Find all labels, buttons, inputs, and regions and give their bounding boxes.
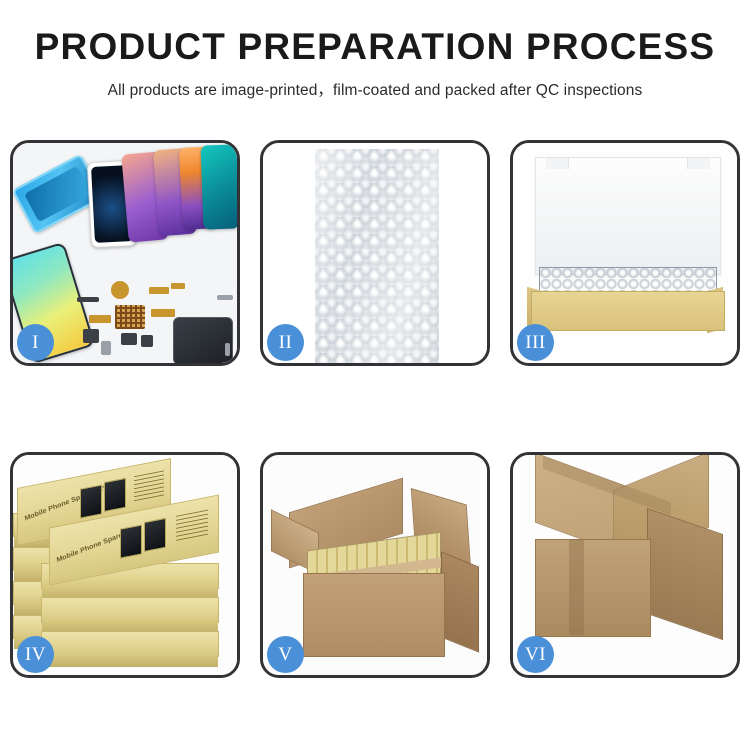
part-flex-cable-2 bbox=[171, 283, 185, 289]
step-badge-6: VI bbox=[517, 636, 554, 673]
part-back-housing bbox=[173, 317, 233, 363]
carton-front-panel bbox=[303, 573, 445, 657]
page-subtitle: All products are image-printed，film-coat… bbox=[0, 78, 750, 100]
header: PRODUCT PREPARATION PROCESS All products… bbox=[0, 0, 750, 100]
part-sim-tray bbox=[101, 341, 111, 355]
part-vibrator bbox=[141, 335, 153, 347]
box-front-panel bbox=[531, 291, 725, 331]
box-spec-lines-2 bbox=[176, 510, 208, 542]
box-screen-image-1b bbox=[104, 478, 126, 512]
part-flex-cable-4 bbox=[151, 309, 175, 317]
step-badge-4: IV bbox=[17, 636, 54, 673]
box-screen-image-1a bbox=[80, 484, 102, 518]
plastic-sheen bbox=[315, 149, 439, 363]
product-preparation-infographic: PRODUCT PREPARATION PROCESS All products… bbox=[0, 0, 750, 750]
process-step-1: I bbox=[10, 140, 240, 366]
process-step-2: II bbox=[260, 140, 490, 366]
sealed-carton-front-panel bbox=[535, 539, 651, 637]
part-strip bbox=[77, 297, 99, 302]
box-screen-image-2a bbox=[120, 524, 142, 558]
part-speaker-coil bbox=[111, 281, 129, 299]
part-tool bbox=[217, 295, 233, 300]
step-badge-5: V bbox=[267, 636, 304, 673]
box-front-2 bbox=[41, 597, 219, 623]
box-screen-image-2b bbox=[144, 518, 166, 552]
process-step-4: Mobile Phone Spare Parts Mobile Phone Sp… bbox=[10, 452, 240, 678]
step-badge-1: I bbox=[17, 324, 54, 361]
carton-side-panel bbox=[441, 551, 479, 652]
process-step-grid: I II III bbox=[10, 140, 740, 678]
box-spec-lines-1 bbox=[134, 470, 164, 502]
part-screwdriver bbox=[225, 343, 230, 356]
process-step-3: III bbox=[510, 140, 740, 366]
box-front-3 bbox=[41, 631, 219, 657]
sealed-carton-right-panel bbox=[647, 508, 723, 640]
box-lid-open bbox=[535, 157, 721, 275]
part-camera-module bbox=[83, 329, 99, 343]
step-badge-2: II bbox=[267, 324, 304, 361]
step-badge-3: III bbox=[517, 324, 554, 361]
carton-tape-front bbox=[569, 539, 584, 635]
process-step-5: V bbox=[260, 452, 490, 678]
part-flex-cable-1 bbox=[149, 287, 169, 294]
process-step-6: VI bbox=[510, 452, 740, 678]
phone-teal bbox=[201, 144, 237, 229]
part-flex-cable-3 bbox=[89, 315, 111, 323]
page-title: PRODUCT PREPARATION PROCESS bbox=[0, 28, 750, 67]
part-connector-grid bbox=[115, 305, 145, 329]
part-button-set bbox=[121, 333, 137, 345]
bubble-wrap-strip bbox=[315, 149, 439, 363]
spare-parts-cluster bbox=[75, 279, 235, 363]
